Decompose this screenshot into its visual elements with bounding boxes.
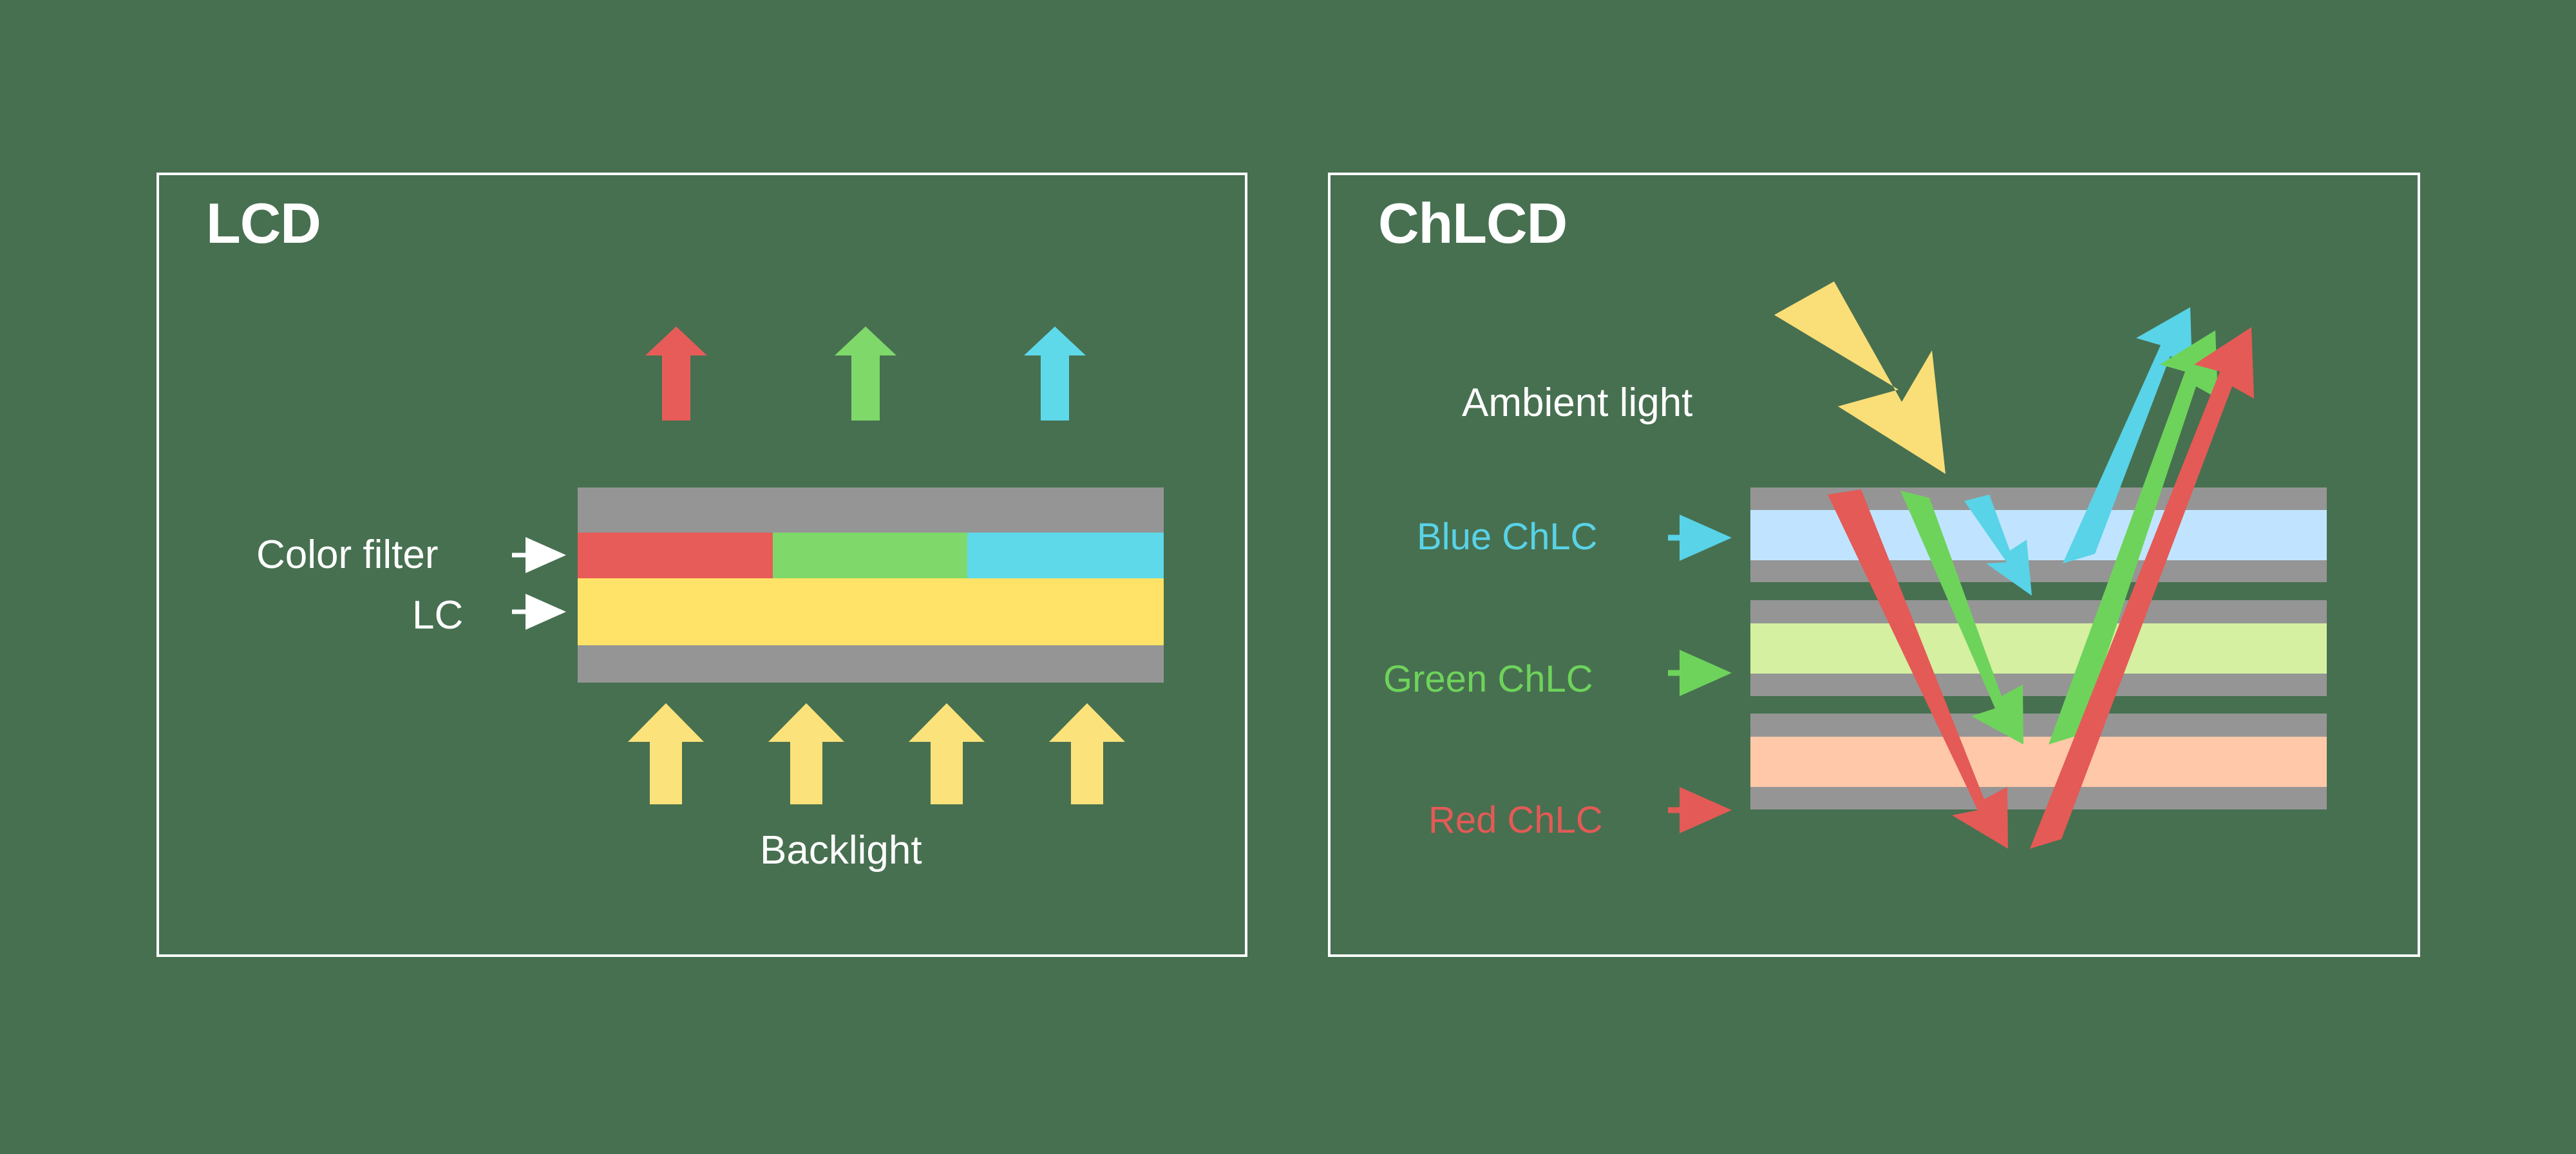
green-chlc-layer xyxy=(1750,623,2327,674)
backlight-arrow-3 xyxy=(909,703,985,804)
diagram-graphics xyxy=(0,0,2576,1154)
green-cell-glass-bottom xyxy=(1750,674,2327,696)
lcd-liquid-crystal xyxy=(578,578,1164,645)
red-cell-glass-top xyxy=(1750,714,2327,737)
red-cell-glass-bottom xyxy=(1750,787,2327,809)
backlight-arrow-4 xyxy=(1049,703,1125,804)
lcd-filter-green xyxy=(773,533,967,578)
ambient-light-arrow xyxy=(1774,281,1946,474)
backlight-arrow-2 xyxy=(768,703,844,804)
lcd-output-arrow-green xyxy=(835,326,896,421)
blue-chlc-layer xyxy=(1750,510,2327,560)
lcd-output-arrow-blue xyxy=(1024,326,1086,421)
backlight-arrow-1 xyxy=(628,703,704,804)
blue-cell-glass-bottom xyxy=(1750,560,2327,582)
lcd-glass-bottom xyxy=(578,645,1164,683)
lcd-output-arrow-red xyxy=(645,326,707,421)
lcd-glass-top xyxy=(578,487,1164,533)
lcd-filter-red xyxy=(578,533,773,578)
diagram-canvas: LCD Color filter LC Backlight ChLCD Ambi… xyxy=(0,0,2576,1154)
chlcd-stack xyxy=(1750,487,2327,809)
red-chlc-layer xyxy=(1750,737,2327,787)
lcd-filter-cyan xyxy=(967,533,1164,578)
lcd-stack xyxy=(578,487,1164,683)
green-cell-glass-top xyxy=(1750,600,2327,623)
